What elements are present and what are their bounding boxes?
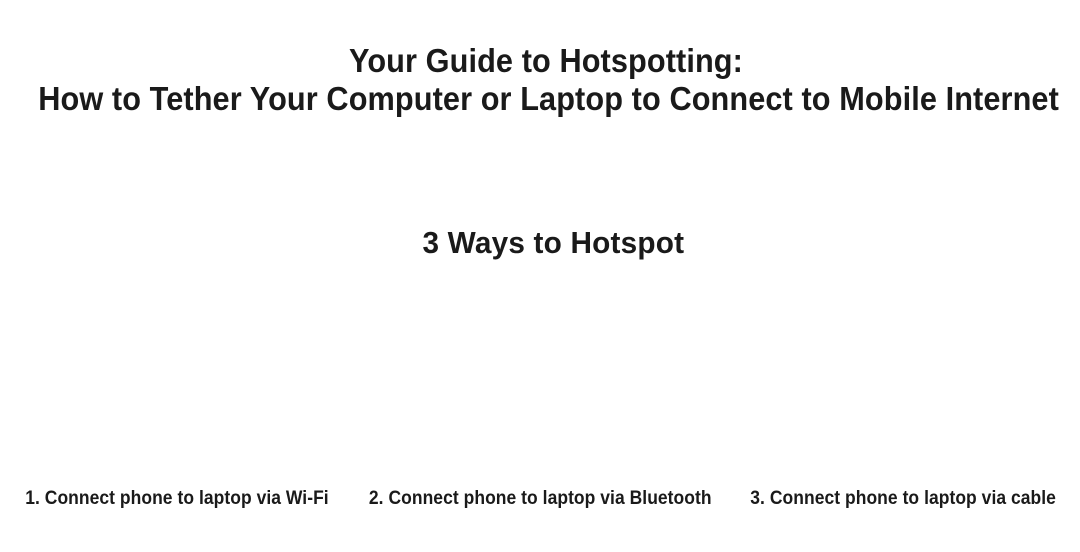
method-illustration-cell-1	[0, 285, 360, 475]
bluetooth-tethering-illustration	[360, 285, 720, 475]
method-illustrations-row	[0, 285, 1080, 475]
method-caption-wifi: 1. Connect phone to laptop via Wi-Fi	[25, 487, 329, 511]
document-page: Your Guide to Hotspotting: How to Tether…	[0, 0, 1080, 552]
page-title-line-2: How to Tether Your Computer or Laptop to…	[38, 80, 1054, 118]
wifi-tethering-illustration	[0, 285, 360, 475]
method-caption-cable: 3. Connect phone to laptop via cable	[750, 487, 1056, 511]
section-heading-container: 3 Ways to Hotspot	[0, 224, 1080, 262]
method-caption-cell-2: 2. Connect phone to laptop via Bluetooth	[354, 487, 727, 511]
page-title: Your Guide to Hotspotting: How to Tether…	[0, 42, 1080, 118]
method-caption-bluetooth: 2. Connect phone to laptop via Bluetooth	[369, 487, 712, 511]
section-heading: 3 Ways to Hotspot	[423, 224, 685, 262]
method-illustration-cell-3	[720, 285, 1080, 475]
method-caption-cell-1: 1. Connect phone to laptop via Wi-Fi	[0, 487, 354, 511]
method-captions-row: 1. Connect phone to laptop via Wi-Fi 2. …	[0, 487, 1080, 517]
cable-tethering-illustration	[720, 285, 1080, 475]
page-title-line-1: Your Guide to Hotspotting:	[38, 42, 1054, 80]
method-caption-cell-3: 3. Connect phone to laptop via cable	[726, 487, 1080, 511]
method-illustration-cell-2	[360, 285, 720, 475]
